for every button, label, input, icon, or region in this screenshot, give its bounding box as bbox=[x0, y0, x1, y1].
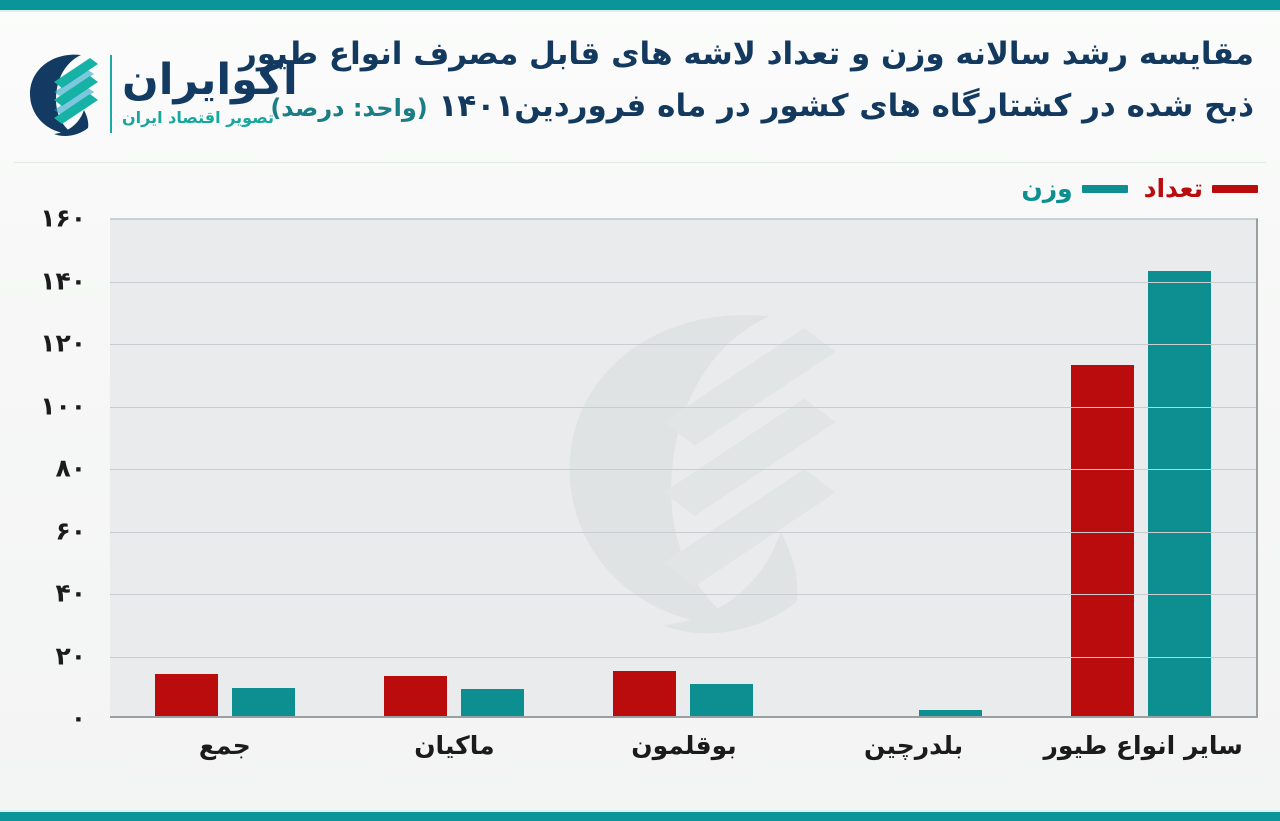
y-axis-tick-label: ۱۲۰ bbox=[40, 329, 86, 358]
gridline bbox=[110, 219, 1256, 220]
y-axis-tick-label: ۴۰ bbox=[55, 579, 86, 608]
legend-label-count: تعداد bbox=[1144, 176, 1203, 201]
bar-weight[interactable] bbox=[461, 689, 524, 718]
y-axis-tick-label: ۸۰ bbox=[55, 454, 86, 483]
top-accent-bar bbox=[0, 0, 1280, 10]
y-axis-tick-label: ۶۰ bbox=[55, 516, 86, 545]
bar-count[interactable] bbox=[1071, 365, 1134, 718]
bar-weight[interactable] bbox=[232, 688, 295, 718]
chart-legend: تعداد وزن bbox=[1021, 176, 1258, 201]
gridline bbox=[110, 594, 1256, 595]
page-title-line-2-text: ذبح شده در کشتارگاه های کشور در ماه فرور… bbox=[439, 88, 1254, 124]
page-title-line-2: ذبح شده در کشتارگاه های کشور در ماه فرور… bbox=[294, 86, 1254, 128]
y-axis-tick-label: ۱۴۰ bbox=[40, 266, 86, 295]
x-axis-tick-label: ماکیان bbox=[340, 728, 570, 802]
y-axis: ۰۲۰۴۰۶۰۸۰۱۰۰۱۲۰۱۴۰۱۶۰ bbox=[0, 218, 100, 718]
plot-area bbox=[110, 218, 1258, 718]
title-block: مقایسه رشد سالانه وزن و تعداد لاشه های ق… bbox=[294, 34, 1254, 128]
x-axis-tick-label: بلدرچین bbox=[799, 728, 1029, 802]
bar-count[interactable] bbox=[384, 676, 447, 718]
gridline bbox=[110, 344, 1256, 345]
bar-weight[interactable] bbox=[1148, 271, 1211, 718]
infographic-page: اکوایران تصویر اقتصاد ایران مقایسه رشد س… bbox=[0, 0, 1280, 821]
legend-swatch-count bbox=[1212, 185, 1258, 193]
gridline bbox=[110, 407, 1256, 408]
y-axis-tick-label: ۱۰۰ bbox=[40, 391, 86, 420]
axis-baseline bbox=[110, 716, 1256, 718]
y-axis-tick-label: ۲۰ bbox=[55, 641, 86, 670]
header: اکوایران تصویر اقتصاد ایران مقایسه رشد س… bbox=[0, 12, 1280, 152]
bar-count[interactable] bbox=[155, 674, 218, 718]
legend-item-count[interactable]: تعداد bbox=[1144, 176, 1258, 201]
bottom-accent-bar bbox=[0, 812, 1280, 821]
y-axis-tick-label: ۱۶۰ bbox=[40, 204, 86, 233]
x-axis-tick-label: بوقلمون bbox=[569, 728, 799, 802]
unit-label: (واحد: درصد) bbox=[270, 94, 427, 122]
ecoiran-e-mark-icon bbox=[18, 48, 100, 140]
logo-subtitle: تصویر اقتصاد ایران bbox=[122, 107, 274, 129]
gridline bbox=[110, 282, 1256, 283]
legend-swatch-weight bbox=[1082, 185, 1128, 193]
legend-label-weight: وزن bbox=[1021, 176, 1072, 201]
gridline bbox=[110, 532, 1256, 533]
bar-weight[interactable] bbox=[690, 684, 753, 718]
page-title-line-1: مقایسه رشد سالانه وزن و تعداد لاشه های ق… bbox=[294, 34, 1254, 76]
logo-divider bbox=[110, 55, 112, 133]
x-axis-tick-label: سایر انواع طیور bbox=[1028, 728, 1258, 802]
gridline bbox=[110, 657, 1256, 658]
x-axis: جمعماکیانبوقلمونبلدرچینسایر انواع طیور bbox=[110, 728, 1258, 802]
header-divider bbox=[14, 162, 1266, 163]
x-axis-tick-label: جمع bbox=[110, 728, 340, 802]
legend-item-weight[interactable]: وزن bbox=[1021, 176, 1127, 201]
gridline bbox=[110, 469, 1256, 470]
y-axis-tick-label: ۰ bbox=[71, 704, 86, 733]
bar-count[interactable] bbox=[613, 671, 676, 718]
